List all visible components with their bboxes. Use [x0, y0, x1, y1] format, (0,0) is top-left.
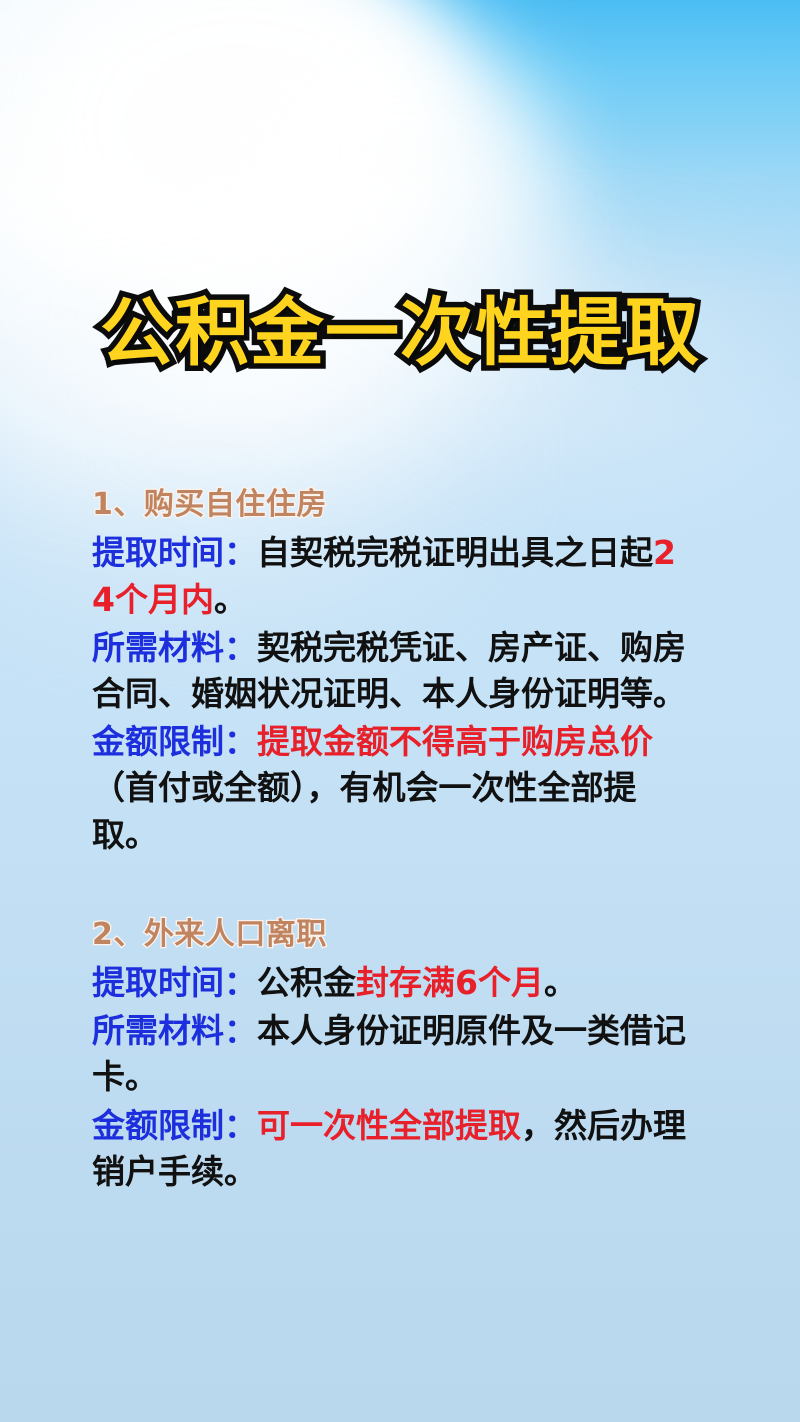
- section-heading: 1、购买自住住房: [92, 486, 696, 524]
- poster-body: 1、购买自住住房提取时间：自契税完税证明出具之日起24个月内。所需材料：契税完税…: [92, 486, 696, 1197]
- cloud-shape: [30, 0, 450, 290]
- row-label: 提取时间：: [92, 963, 257, 1002]
- row-label: 金额限制：: [92, 1106, 257, 1145]
- row-label: 金额限制：: [92, 722, 257, 761]
- cloud-shape: [250, 30, 550, 280]
- poster-title: 公积金一次性提取: [0, 296, 800, 370]
- row-text: 。: [214, 580, 247, 619]
- content-section: 2、外来人口离职提取时间：公积金封存满6个月。所需材料：本人身份证明原件及一类借…: [92, 916, 696, 1195]
- content-row: 提取时间：自契税完税证明出具之日起24个月内。: [92, 530, 696, 622]
- poster-title-text: 公积金一次性提取: [100, 296, 700, 370]
- row-text: 。: [544, 963, 577, 1002]
- content-row: 所需材料：本人身份证明原件及一类借记卡。: [92, 1008, 696, 1100]
- content-row: 金额限制：可一次性全部提取，然后办理销户手续。: [92, 1103, 696, 1195]
- row-text: 公积金: [257, 963, 356, 1002]
- poster-canvas: 公积金一次性提取 1、购买自住住房提取时间：自契税完税证明出具之日起24个月内。…: [0, 0, 800, 1422]
- content-row: 金额限制：提取金额不得高于购房总价（首付或全额），有机会一次性全部提取。: [92, 719, 696, 858]
- row-highlight-text: 可一次性全部提取: [257, 1106, 521, 1145]
- row-label: 提取时间：: [92, 533, 257, 572]
- row-highlight-text: 提取金额不得高于购房总价: [257, 722, 653, 761]
- content-row: 所需材料：契税完税凭证、房产证、购房合同、婚姻状况证明、本人身份证明等。: [92, 625, 696, 717]
- content-section: 1、购买自住住房提取时间：自契税完税证明出具之日起24个月内。所需材料：契税完税…: [92, 486, 696, 858]
- row-highlight-text: 封存满6个月: [356, 963, 544, 1002]
- content-row: 提取时间：公积金封存满6个月。: [92, 960, 696, 1006]
- row-label: 所需材料：: [92, 1011, 257, 1050]
- row-text: 自契税完税证明出具之日起: [257, 533, 653, 572]
- section-heading: 2、外来人口离职: [92, 916, 696, 954]
- row-label: 所需材料：: [92, 628, 257, 667]
- row-text: （首付或全额），有机会一次性全部提取。: [92, 768, 637, 853]
- cloud-shape: [0, 0, 450, 310]
